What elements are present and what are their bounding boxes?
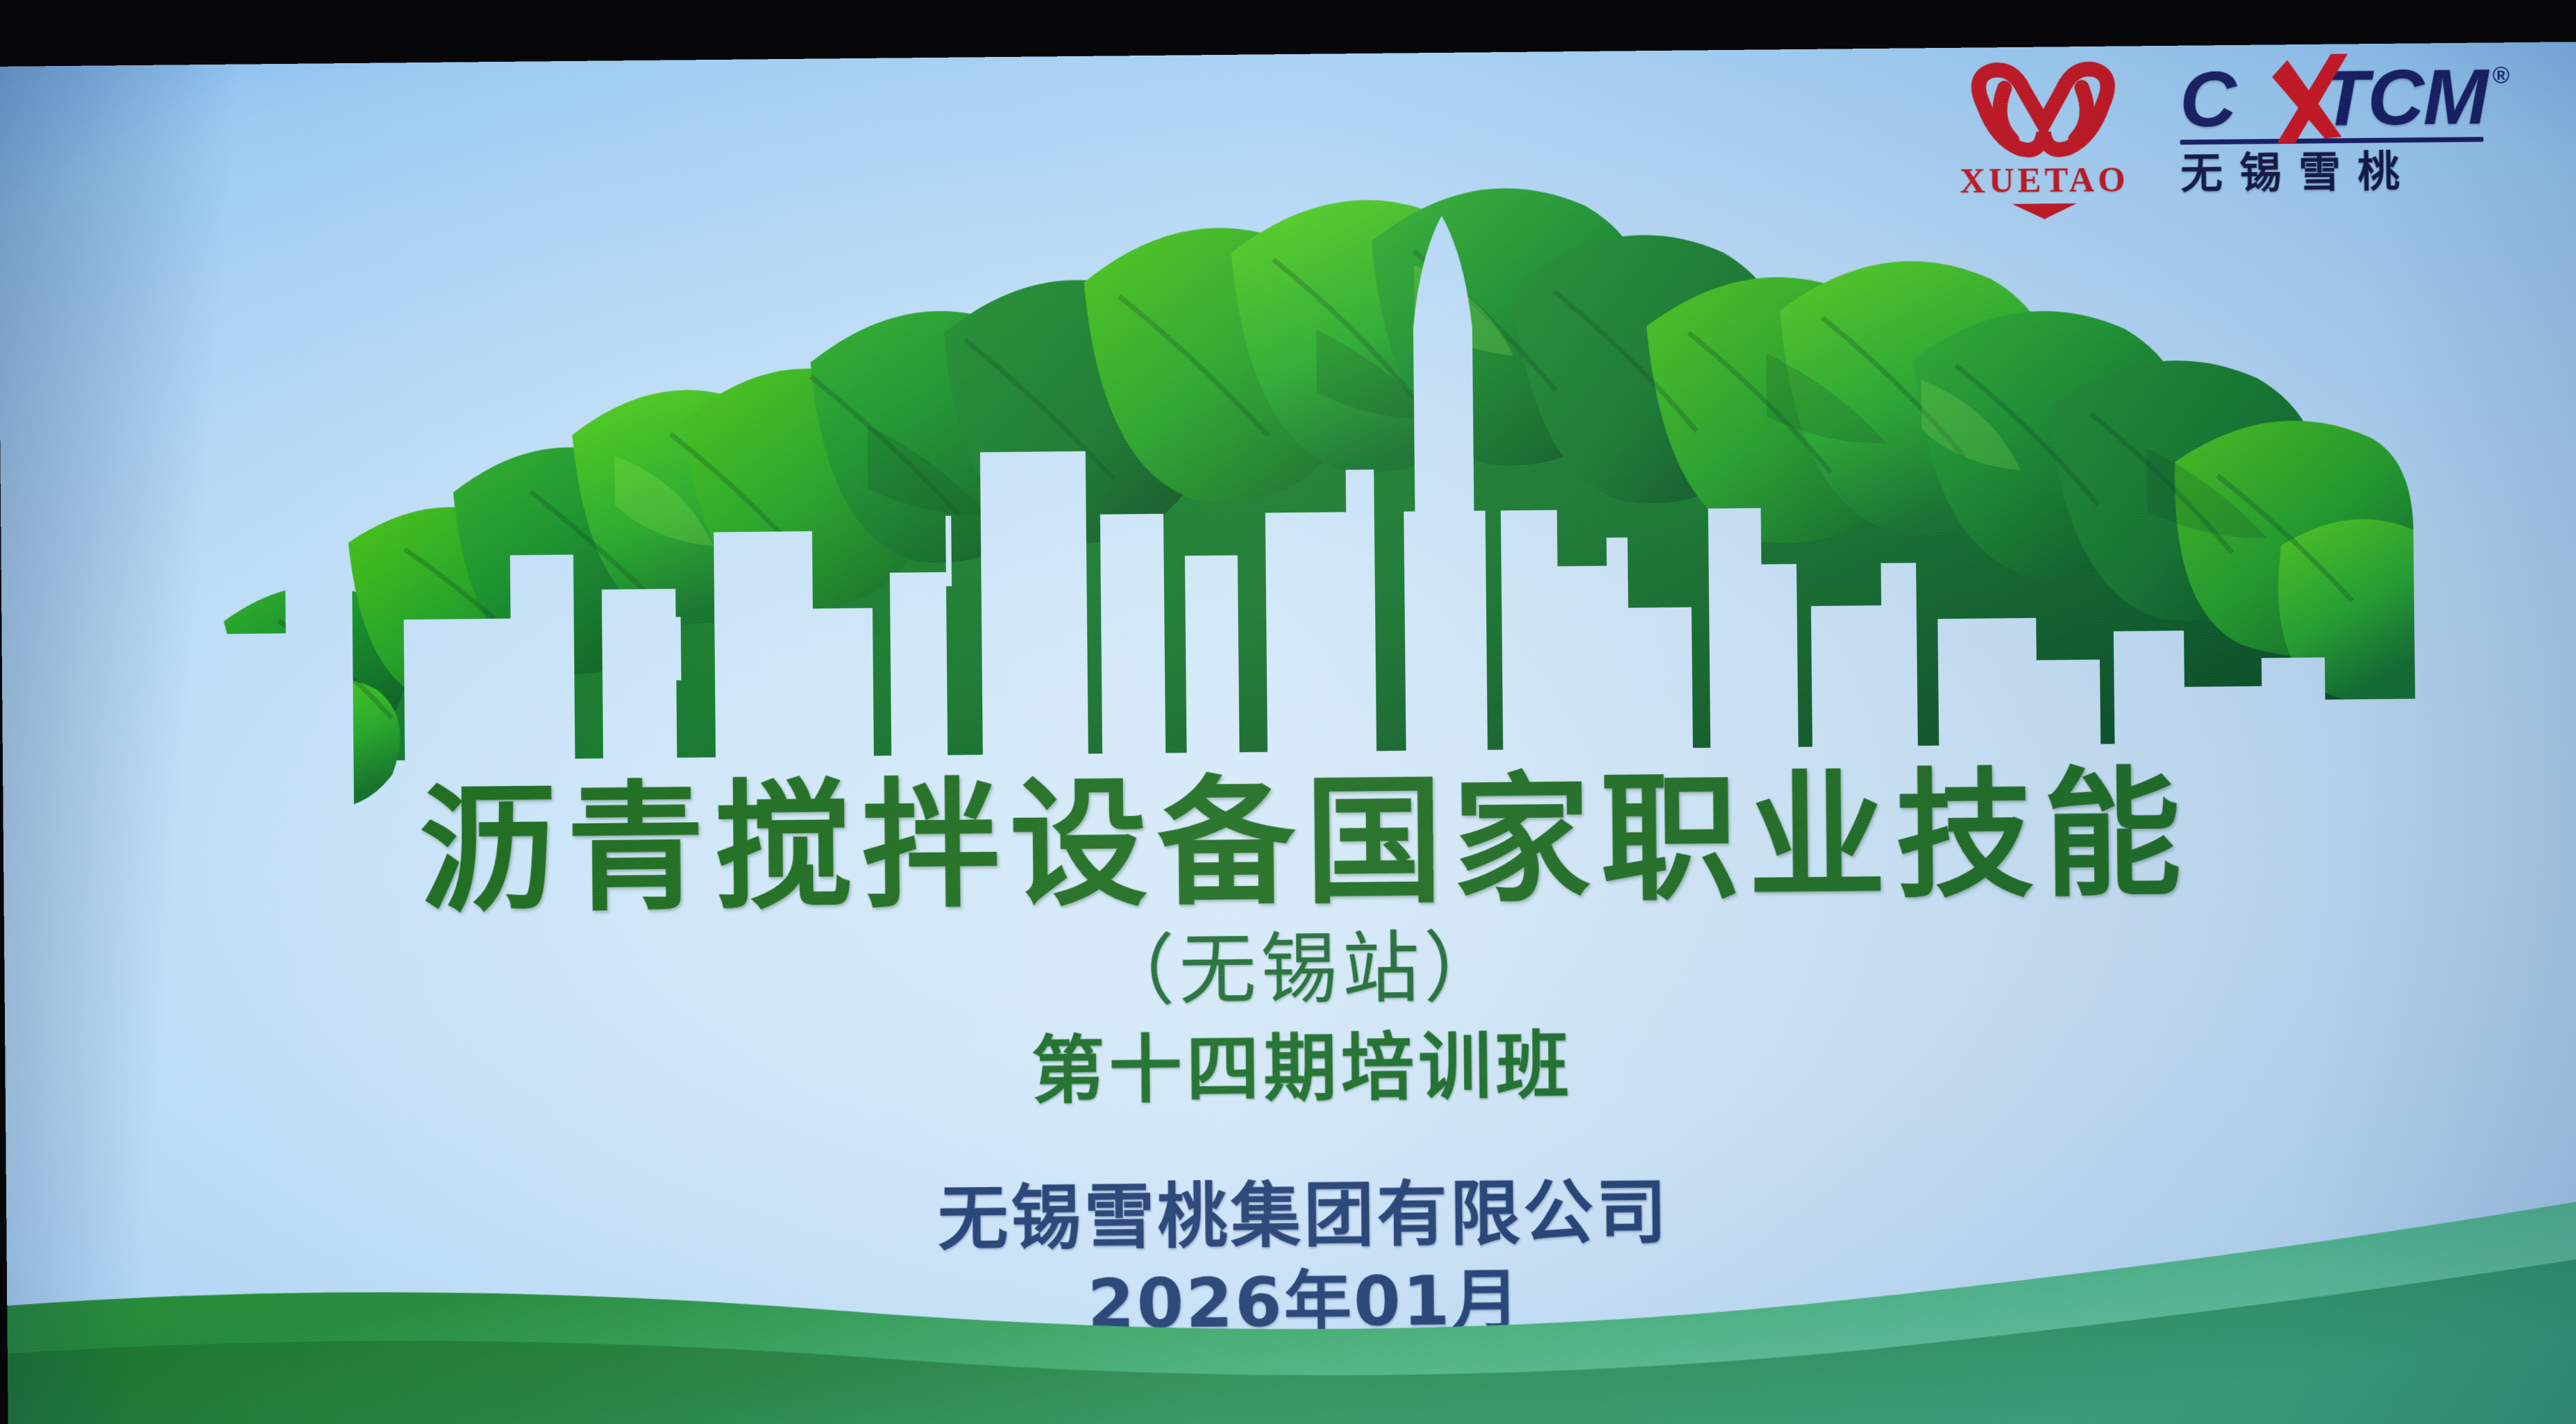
- brand-logo-group: XUETAO C TCM ®: [1937, 55, 2511, 220]
- slide-city-subtitle: （无锡站）: [4, 915, 2576, 1025]
- xuetao-interlocked-loops-icon: [1962, 59, 2125, 165]
- room-photo: XUETAO C TCM ®: [0, 0, 2576, 1424]
- bottom-green-wave: [6, 1198, 2576, 1424]
- xuetao-logo: XUETAO: [1937, 58, 2150, 220]
- slide-term-subtitle: 第十四期培训班: [5, 1016, 2576, 1121]
- cxtcm-logo: C TCM ® 无锡雪桃: [2179, 55, 2511, 195]
- registered-trademark-icon: ®: [2492, 62, 2509, 90]
- cxtcm-wordmark-c: C: [2180, 62, 2236, 137]
- presentation-slide: XUETAO C TCM ®: [0, 42, 2576, 1424]
- slide-main-title: 沥青搅拌设备国家职业技能: [3, 759, 2576, 928]
- xuetao-wordmark: XUETAO: [1960, 161, 2129, 198]
- xuetao-base-accent-icon: [2011, 201, 2078, 219]
- display-screen: XUETAO C TCM ®: [0, 42, 2576, 1424]
- cxtcm-chinese-name: 无锡雪桃: [2180, 151, 2417, 196]
- cxtcm-red-x-icon: [2266, 53, 2350, 146]
